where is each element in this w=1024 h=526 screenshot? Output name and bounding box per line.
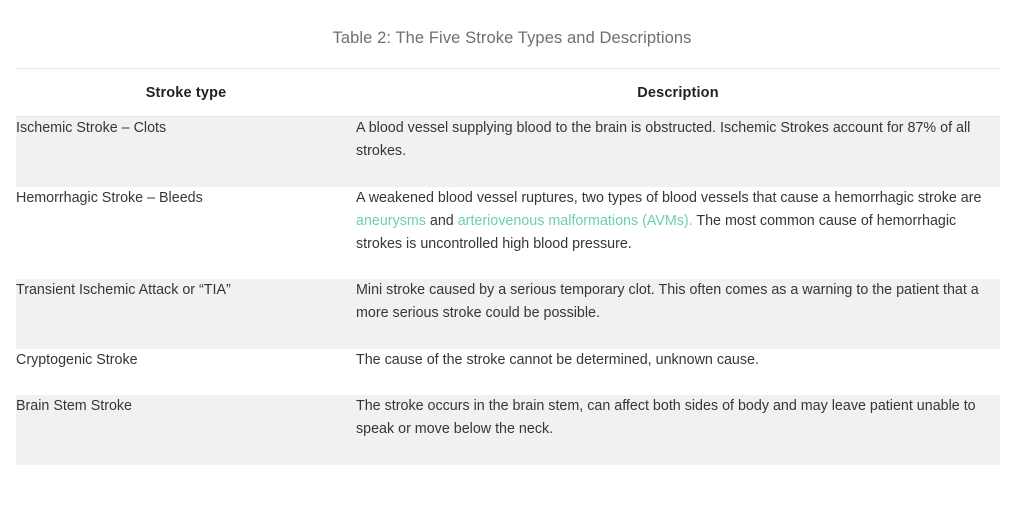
table-body: Ischemic Stroke – Clots A blood vessel s… — [16, 116, 1000, 465]
cell-stroke-type: Brain Stem Stroke — [16, 395, 356, 465]
table-page: Table 2: The Five Stroke Types and Descr… — [0, 0, 1024, 526]
description-link[interactable]: arteriovenous malformations (AVMs). — [458, 213, 693, 229]
description-link[interactable]: aneurysms — [356, 213, 426, 229]
table-row: Ischemic Stroke – Clots A blood vessel s… — [16, 116, 1000, 187]
cell-description: A blood vessel supplying blood to the br… — [356, 116, 1000, 187]
table-container: Stroke type Description Ischemic Stroke … — [16, 68, 1000, 465]
cell-description: The cause of the stroke cannot be determ… — [356, 349, 1000, 395]
table-row: Hemorrhagic Stroke – Bleeds A weakened b… — [16, 187, 1000, 279]
description-text: The cause of the stroke cannot be determ… — [356, 352, 759, 368]
cell-description: A weakened blood vessel ruptures, two ty… — [356, 187, 1000, 279]
description-text: and — [426, 213, 458, 229]
table-caption: Table 2: The Five Stroke Types and Descr… — [0, 0, 1024, 49]
description-text: Mini stroke caused by a serious temporar… — [356, 282, 979, 321]
table-row: Transient Ischemic Attack or “TIA” Mini … — [16, 279, 1000, 349]
table-row: Brain Stem Stroke The stroke occurs in t… — [16, 395, 1000, 465]
header-row: Stroke type Description — [16, 68, 1000, 116]
description-text: A blood vessel supplying blood to the br… — [356, 120, 970, 159]
cell-stroke-type: Cryptogenic Stroke — [16, 349, 356, 395]
description-text: A weakened blood vessel ruptures, two ty… — [356, 190, 981, 206]
column-header-description: Description — [356, 68, 1000, 116]
table-header: Stroke type Description — [16, 68, 1000, 116]
description-text: The stroke occurs in the brain stem, can… — [356, 398, 976, 437]
cell-stroke-type: Hemorrhagic Stroke – Bleeds — [16, 187, 356, 279]
cell-description: The stroke occurs in the brain stem, can… — [356, 395, 1000, 465]
stroke-types-table: Stroke type Description Ischemic Stroke … — [16, 68, 1000, 465]
column-header-stroke-type: Stroke type — [16, 68, 356, 116]
table-row: Cryptogenic Stroke The cause of the stro… — [16, 349, 1000, 395]
cell-stroke-type: Transient Ischemic Attack or “TIA” — [16, 279, 356, 349]
cell-description: Mini stroke caused by a serious temporar… — [356, 279, 1000, 349]
cell-stroke-type: Ischemic Stroke – Clots — [16, 116, 356, 187]
